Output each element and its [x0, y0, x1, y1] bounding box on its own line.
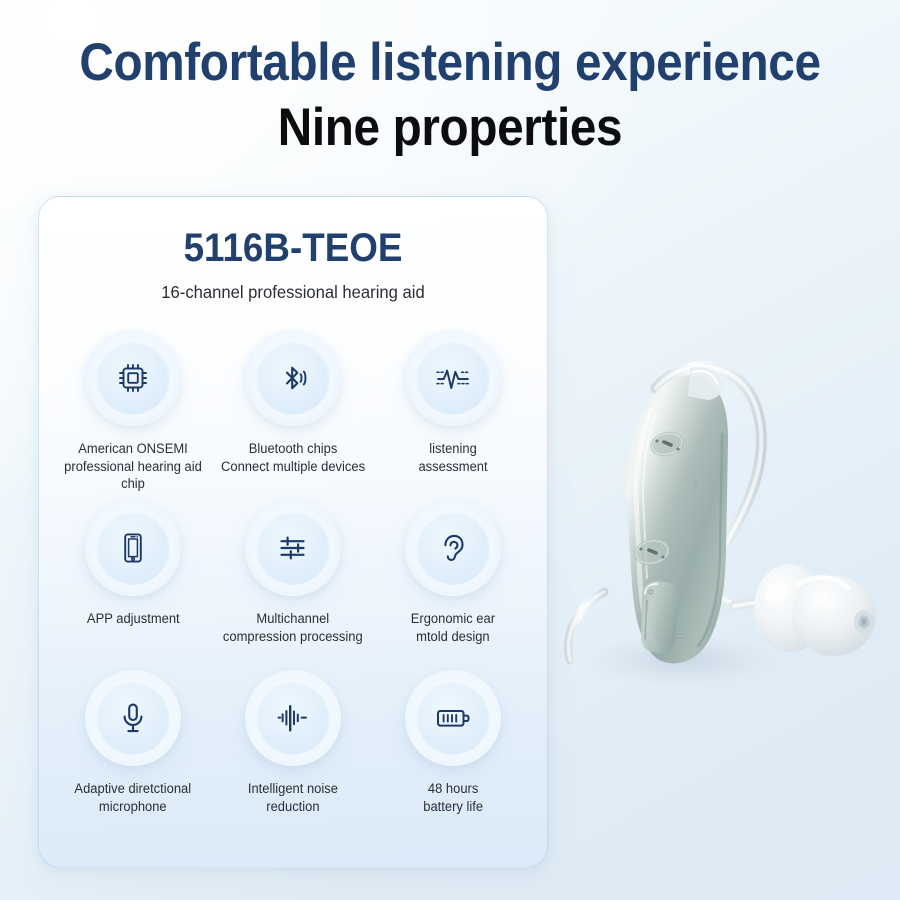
product-infographic-poster: Comfortable listening experience Nine pr…	[0, 0, 900, 900]
bluetooth-icon	[256, 341, 330, 415]
feature-item-chip: American ONSEMI professional hearing aid…	[53, 330, 213, 500]
card-header: 5116B-TEOE 16-channel professional heari…	[39, 197, 547, 304]
microphone-icon	[96, 681, 170, 755]
audio-bars-icon	[256, 681, 330, 755]
feature-item-ergonomic-ear: Ergonomic ear mtold design	[373, 500, 533, 670]
feature-icon-bubble	[245, 670, 341, 766]
feature-icon-bubble	[245, 330, 341, 426]
feature-item-listening-assessment: listening assessment	[373, 330, 533, 500]
feature-item-directional-microphone: Adaptive diretctional microphone	[53, 670, 213, 840]
feature-icon-bubble	[405, 500, 501, 596]
battery-icon	[416, 681, 490, 755]
feature-item-noise-reduction: Intelligent noise reduction	[213, 670, 373, 840]
feature-label: Adaptive diretctional microphone	[75, 780, 192, 815]
feature-grid: American ONSEMI professional hearing aid…	[39, 330, 547, 840]
microphone-port-lower	[632, 536, 673, 569]
feature-icon-bubble	[245, 500, 341, 596]
ear-icon	[416, 511, 490, 585]
hearing-aid-product-image	[552, 338, 900, 738]
feature-icon-bubble	[405, 330, 501, 426]
headline-line-2: Nine properties	[45, 98, 855, 158]
microphone-port-upper	[648, 428, 687, 460]
feature-item-multichannel-compression: Multichannel compression processing	[213, 500, 373, 670]
hearing-aid-illustration	[552, 338, 900, 738]
feature-label: American ONSEMI professional hearing aid…	[56, 440, 210, 493]
feature-item-battery-life: 48 hours battery life	[373, 670, 533, 840]
waveform-assessment-icon	[416, 341, 490, 415]
feature-label: Intelligent noise reduction	[248, 780, 338, 815]
product-model-name: 5116B-TEOE	[59, 225, 526, 271]
feature-label: listening assessment	[418, 440, 487, 475]
feature-item-bluetooth: Bluetooth chips Connect multiple devices	[213, 330, 373, 500]
feature-icon-bubble	[405, 670, 501, 766]
feature-label: Multichannel compression processing	[223, 610, 363, 645]
smartphone-icon	[96, 511, 170, 585]
product-model-subtitle: 16-channel professional hearing aid	[52, 280, 535, 304]
chip-icon	[96, 341, 170, 415]
feature-label: APP adjustment	[87, 610, 180, 628]
feature-card: 5116B-TEOE 16-channel professional heari…	[38, 196, 548, 868]
feature-icon-bubble	[85, 670, 181, 766]
feature-icon-bubble	[85, 330, 181, 426]
headline-line-1: Comfortable listening experience	[45, 34, 855, 92]
feature-label: 48 hours battery life	[423, 780, 483, 815]
feature-label: Bluetooth chips Connect multiple devices	[221, 440, 365, 475]
sliders-icon	[256, 511, 330, 585]
feature-item-app-adjustment: APP adjustment	[53, 500, 213, 670]
feature-label: Ergonomic ear mtold design	[411, 610, 495, 645]
feature-icon-bubble	[85, 500, 181, 596]
headline-block: Comfortable listening experience Nine pr…	[0, 34, 900, 158]
